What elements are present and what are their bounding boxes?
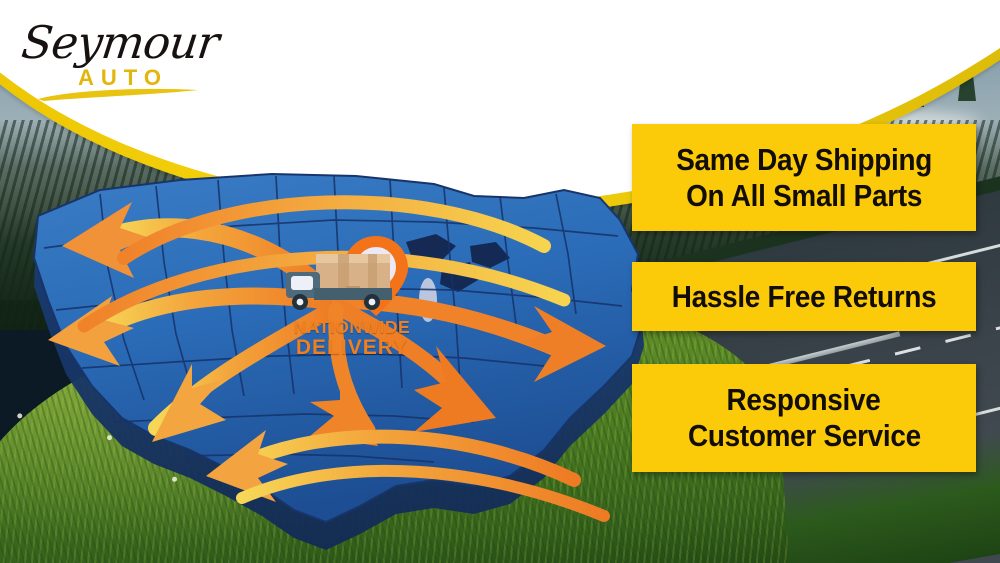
- feature-line: Hassle Free Returns: [672, 279, 937, 315]
- brand-logo[interactable]: Seymour AUTO: [18, 14, 198, 100]
- promo-banner: Seymour AUTO: [0, 0, 1000, 563]
- delivery-illustration: [272, 232, 432, 322]
- feature-box-same-day-shipping[interactable]: Same Day Shipping On All Small Parts: [632, 124, 976, 231]
- logo-swoosh-icon: [38, 88, 200, 101]
- feature-box-hassle-free-returns[interactable]: Hassle Free Returns: [632, 262, 976, 331]
- feature-line: Customer Service: [688, 418, 921, 454]
- caption-line-1: NATIONWIDE: [272, 318, 432, 337]
- feature-line: On All Small Parts: [686, 178, 922, 214]
- feature-line: Responsive: [727, 382, 881, 418]
- nationwide-delivery-badge: NATIONWIDE DELIVERY: [272, 232, 432, 367]
- delivery-caption: NATIONWIDE DELIVERY: [272, 318, 432, 359]
- feature-box-responsive-customer-service[interactable]: Responsive Customer Service: [632, 364, 976, 472]
- caption-line-2: DELIVERY: [272, 337, 432, 359]
- brand-name: Seymour: [19, 16, 222, 69]
- feature-line: Same Day Shipping: [676, 142, 932, 178]
